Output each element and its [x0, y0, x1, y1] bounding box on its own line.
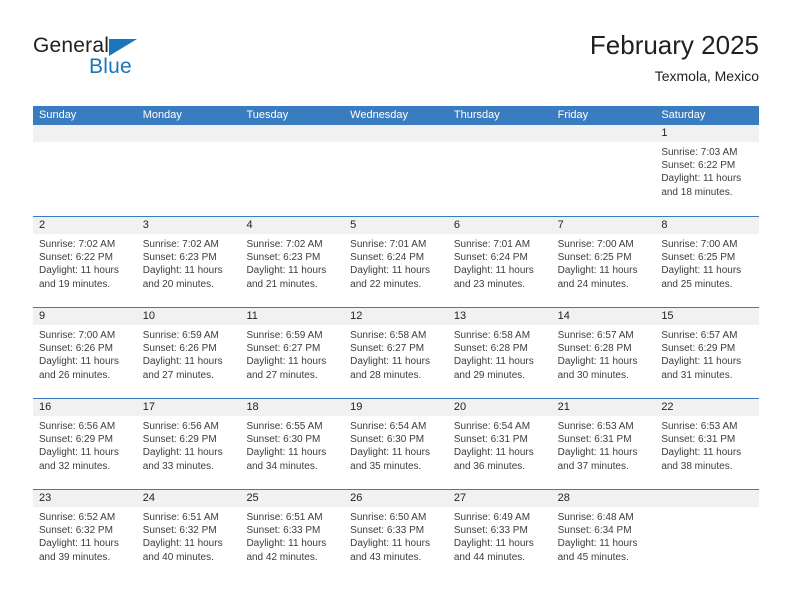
day-number: 12 [344, 308, 448, 325]
weekday-header-monday: Monday [137, 106, 241, 125]
day-details: Sunrise: 7:00 AMSunset: 6:25 PMDaylight:… [655, 234, 759, 307]
daylight-text: and 21 minutes. [246, 278, 338, 291]
sunrise-text: Sunrise: 7:00 AM [558, 238, 650, 251]
daylight-text: Daylight: 11 hours [661, 355, 753, 368]
daylight-text: Daylight: 11 hours [558, 446, 650, 459]
day-details: Sunrise: 6:54 AMSunset: 6:31 PMDaylight:… [448, 416, 552, 489]
day-details: Sunrise: 7:00 AMSunset: 6:26 PMDaylight:… [33, 325, 137, 398]
day-details: Sunrise: 7:03 AMSunset: 6:22 PMDaylight:… [655, 142, 759, 215]
day-cell-14[interactable]: 14Sunrise: 6:57 AMSunset: 6:28 PMDayligh… [552, 308, 656, 398]
day-number: 7 [552, 217, 656, 234]
page-header: General Blue February 2025 Texmola, Mexi… [33, 30, 759, 94]
calendar-week-row: 16Sunrise: 6:56 AMSunset: 6:29 PMDayligh… [33, 398, 759, 489]
daylight-text: Daylight: 11 hours [454, 355, 546, 368]
day-number: 25 [240, 490, 344, 507]
day-cell-25[interactable]: 25Sunrise: 6:51 AMSunset: 6:33 PMDayligh… [240, 490, 344, 580]
logo-word-blue: Blue [89, 55, 132, 79]
day-number: 21 [552, 399, 656, 416]
daylight-text: and 38 minutes. [661, 460, 753, 473]
day-details: Sunrise: 6:59 AMSunset: 6:27 PMDaylight:… [240, 325, 344, 398]
day-number-band: 9 [33, 308, 137, 325]
sunrise-text: Sunrise: 6:59 AM [246, 329, 338, 342]
day-cell-15[interactable]: 15Sunrise: 6:57 AMSunset: 6:29 PMDayligh… [655, 308, 759, 398]
day-details: Sunrise: 7:01 AMSunset: 6:24 PMDaylight:… [448, 234, 552, 307]
day-number: 2 [33, 217, 137, 234]
daylight-text: and 34 minutes. [246, 460, 338, 473]
daylight-text: and 26 minutes. [39, 369, 131, 382]
sunrise-text: Sunrise: 6:48 AM [558, 511, 650, 524]
daylight-text: Daylight: 11 hours [661, 264, 753, 277]
day-number-band: 5 [344, 217, 448, 234]
day-cell-empty [33, 125, 137, 216]
sunset-text: Sunset: 6:26 PM [39, 342, 131, 355]
daylight-text: Daylight: 11 hours [39, 355, 131, 368]
sunset-text: Sunset: 6:32 PM [39, 524, 131, 537]
page-subtitle: Texmola, Mexico [590, 66, 759, 86]
title-block: February 2025 Texmola, Mexico [590, 30, 759, 86]
sunrise-text: Sunrise: 6:58 AM [350, 329, 442, 342]
weekday-header-thursday: Thursday [448, 106, 552, 125]
day-cell-11[interactable]: 11Sunrise: 6:59 AMSunset: 6:27 PMDayligh… [240, 308, 344, 398]
daylight-text: Daylight: 11 hours [39, 537, 131, 550]
sunset-text: Sunset: 6:33 PM [246, 524, 338, 537]
day-details: Sunrise: 6:58 AMSunset: 6:27 PMDaylight:… [344, 325, 448, 398]
day-number: 23 [33, 490, 137, 507]
logo-triangle-icon [109, 39, 137, 56]
day-details [137, 142, 241, 215]
page-title: February 2025 [590, 30, 759, 60]
day-details: Sunrise: 6:56 AMSunset: 6:29 PMDaylight:… [33, 416, 137, 489]
day-cell-9[interactable]: 9Sunrise: 7:00 AMSunset: 6:26 PMDaylight… [33, 308, 137, 398]
day-number-band [137, 125, 241, 142]
day-number-band: 2 [33, 217, 137, 234]
day-number-band: 25 [240, 490, 344, 507]
weekday-header-saturday: Saturday [655, 106, 759, 125]
daylight-text: and 45 minutes. [558, 551, 650, 564]
day-cell-13[interactable]: 13Sunrise: 6:58 AMSunset: 6:28 PMDayligh… [448, 308, 552, 398]
day-number: 9 [33, 308, 137, 325]
day-number: 27 [448, 490, 552, 507]
weekday-header-friday: Friday [552, 106, 656, 125]
day-details: Sunrise: 6:53 AMSunset: 6:31 PMDaylight:… [552, 416, 656, 489]
day-details: Sunrise: 7:02 AMSunset: 6:22 PMDaylight:… [33, 234, 137, 307]
day-details: Sunrise: 6:51 AMSunset: 6:32 PMDaylight:… [137, 507, 241, 580]
day-number: 28 [552, 490, 656, 507]
daylight-text: and 24 minutes. [558, 278, 650, 291]
day-details [448, 142, 552, 215]
sunset-text: Sunset: 6:25 PM [558, 251, 650, 264]
sunrise-text: Sunrise: 6:56 AM [143, 420, 235, 433]
daylight-text: Daylight: 11 hours [661, 446, 753, 459]
day-number: 11 [240, 308, 344, 325]
sunset-text: Sunset: 6:34 PM [558, 524, 650, 537]
daylight-text: Daylight: 11 hours [350, 537, 442, 550]
daylight-text: Daylight: 11 hours [350, 355, 442, 368]
daylight-text: Daylight: 11 hours [143, 355, 235, 368]
day-number: 19 [344, 399, 448, 416]
day-number-band: 4 [240, 217, 344, 234]
day-number-band: 15 [655, 308, 759, 325]
sunrise-text: Sunrise: 7:00 AM [39, 329, 131, 342]
day-cell-empty [344, 125, 448, 216]
day-details [344, 142, 448, 215]
day-cell-2[interactable]: 2Sunrise: 7:02 AMSunset: 6:22 PMDaylight… [33, 217, 137, 307]
day-number-band: 28 [552, 490, 656, 507]
sunrise-text: Sunrise: 6:55 AM [246, 420, 338, 433]
day-details: Sunrise: 6:54 AMSunset: 6:30 PMDaylight:… [344, 416, 448, 489]
day-details [33, 142, 137, 215]
weekday-header-row: SundayMondayTuesdayWednesdayThursdayFrid… [33, 106, 759, 125]
day-cell-empty [137, 125, 241, 216]
day-number-band [240, 125, 344, 142]
daylight-text: and 22 minutes. [350, 278, 442, 291]
day-details [552, 142, 656, 215]
sunset-text: Sunset: 6:31 PM [558, 433, 650, 446]
day-number-band: 17 [137, 399, 241, 416]
day-number-band: 3 [137, 217, 241, 234]
sunset-text: Sunset: 6:31 PM [454, 433, 546, 446]
day-cell-10[interactable]: 10Sunrise: 6:59 AMSunset: 6:26 PMDayligh… [137, 308, 241, 398]
daylight-text: Daylight: 11 hours [143, 264, 235, 277]
daylight-text: Daylight: 11 hours [246, 537, 338, 550]
daylight-text: and 20 minutes. [143, 278, 235, 291]
sunrise-text: Sunrise: 6:52 AM [39, 511, 131, 524]
sunrise-text: Sunrise: 6:54 AM [454, 420, 546, 433]
sunset-text: Sunset: 6:33 PM [350, 524, 442, 537]
day-number: 1 [655, 125, 759, 142]
sunset-text: Sunset: 6:29 PM [143, 433, 235, 446]
sunrise-text: Sunrise: 6:50 AM [350, 511, 442, 524]
day-number-band: 19 [344, 399, 448, 416]
daylight-text: and 35 minutes. [350, 460, 442, 473]
day-cell-3[interactable]: 3Sunrise: 7:02 AMSunset: 6:23 PMDaylight… [137, 217, 241, 307]
sunrise-text: Sunrise: 6:54 AM [350, 420, 442, 433]
day-number-band [655, 490, 759, 507]
day-number: 4 [240, 217, 344, 234]
day-details: Sunrise: 6:56 AMSunset: 6:29 PMDaylight:… [137, 416, 241, 489]
day-cell-22[interactable]: 22Sunrise: 6:53 AMSunset: 6:31 PMDayligh… [655, 399, 759, 489]
day-cell-1[interactable]: 1Sunrise: 7:03 AMSunset: 6:22 PMDaylight… [655, 125, 759, 216]
sunrise-text: Sunrise: 6:49 AM [454, 511, 546, 524]
calendar-grid: SundayMondayTuesdayWednesdayThursdayFrid… [33, 106, 759, 580]
daylight-text: Daylight: 11 hours [558, 264, 650, 277]
day-details: Sunrise: 6:59 AMSunset: 6:26 PMDaylight:… [137, 325, 241, 398]
day-details [240, 142, 344, 215]
daylight-text: Daylight: 11 hours [558, 537, 650, 550]
daylight-text: Daylight: 11 hours [350, 446, 442, 459]
calendar-week-row: 9Sunrise: 7:00 AMSunset: 6:26 PMDaylight… [33, 307, 759, 398]
day-details: Sunrise: 7:01 AMSunset: 6:24 PMDaylight:… [344, 234, 448, 307]
calendar-week-row: 2Sunrise: 7:02 AMSunset: 6:22 PMDaylight… [33, 216, 759, 307]
day-number: 20 [448, 399, 552, 416]
day-details: Sunrise: 6:55 AMSunset: 6:30 PMDaylight:… [240, 416, 344, 489]
day-number-band: 6 [448, 217, 552, 234]
day-details: Sunrise: 6:57 AMSunset: 6:29 PMDaylight:… [655, 325, 759, 398]
day-cell-24[interactable]: 24Sunrise: 6:51 AMSunset: 6:32 PMDayligh… [137, 490, 241, 580]
day-cell-empty [240, 125, 344, 216]
sunrise-text: Sunrise: 7:01 AM [350, 238, 442, 251]
day-number-band [33, 125, 137, 142]
daylight-text: Daylight: 11 hours [143, 537, 235, 550]
sunrise-text: Sunrise: 6:57 AM [661, 329, 753, 342]
sunset-text: Sunset: 6:33 PM [454, 524, 546, 537]
day-number-band: 21 [552, 399, 656, 416]
day-cell-28[interactable]: 28Sunrise: 6:48 AMSunset: 6:34 PMDayligh… [552, 490, 656, 580]
day-cell-5[interactable]: 5Sunrise: 7:01 AMSunset: 6:24 PMDaylight… [344, 217, 448, 307]
day-number-band [448, 125, 552, 142]
sunset-text: Sunset: 6:30 PM [350, 433, 442, 446]
sunset-text: Sunset: 6:26 PM [143, 342, 235, 355]
weekday-header-sunday: Sunday [33, 106, 137, 125]
sunrise-text: Sunrise: 6:56 AM [39, 420, 131, 433]
day-cell-21[interactable]: 21Sunrise: 6:53 AMSunset: 6:31 PMDayligh… [552, 399, 656, 489]
daylight-text: and 37 minutes. [558, 460, 650, 473]
day-number-band: 24 [137, 490, 241, 507]
general-blue-logo[interactable]: General Blue [33, 34, 213, 90]
day-number-band [344, 125, 448, 142]
day-cell-20[interactable]: 20Sunrise: 6:54 AMSunset: 6:31 PMDayligh… [448, 399, 552, 489]
day-number: 6 [448, 217, 552, 234]
day-number-band: 12 [344, 308, 448, 325]
day-number: 17 [137, 399, 241, 416]
day-cell-19[interactable]: 19Sunrise: 6:54 AMSunset: 6:30 PMDayligh… [344, 399, 448, 489]
daylight-text: Daylight: 11 hours [454, 537, 546, 550]
sunset-text: Sunset: 6:30 PM [246, 433, 338, 446]
daylight-text: and 40 minutes. [143, 551, 235, 564]
sunset-text: Sunset: 6:22 PM [661, 159, 753, 172]
day-number: 14 [552, 308, 656, 325]
day-number-band: 22 [655, 399, 759, 416]
day-cell-27[interactable]: 27Sunrise: 6:49 AMSunset: 6:33 PMDayligh… [448, 490, 552, 580]
day-cell-12[interactable]: 12Sunrise: 6:58 AMSunset: 6:27 PMDayligh… [344, 308, 448, 398]
sunrise-text: Sunrise: 7:02 AM [246, 238, 338, 251]
sunset-text: Sunset: 6:23 PM [143, 251, 235, 264]
sunrise-text: Sunrise: 6:53 AM [558, 420, 650, 433]
day-cell-16[interactable]: 16Sunrise: 6:56 AMSunset: 6:29 PMDayligh… [33, 399, 137, 489]
day-number: 16 [33, 399, 137, 416]
sunset-text: Sunset: 6:31 PM [661, 433, 753, 446]
sunset-text: Sunset: 6:25 PM [661, 251, 753, 264]
day-cell-26[interactable]: 26Sunrise: 6:50 AMSunset: 6:33 PMDayligh… [344, 490, 448, 580]
day-number-band: 1 [655, 125, 759, 142]
day-number: 5 [344, 217, 448, 234]
daylight-text: and 39 minutes. [39, 551, 131, 564]
daylight-text: Daylight: 11 hours [39, 446, 131, 459]
daylight-text: and 19 minutes. [39, 278, 131, 291]
daylight-text: and 33 minutes. [143, 460, 235, 473]
sunset-text: Sunset: 6:22 PM [39, 251, 131, 264]
day-details: Sunrise: 6:57 AMSunset: 6:28 PMDaylight:… [552, 325, 656, 398]
calendar-weeks: 1Sunrise: 7:03 AMSunset: 6:22 PMDaylight… [33, 125, 759, 580]
day-number: 26 [344, 490, 448, 507]
daylight-text: Daylight: 11 hours [350, 264, 442, 277]
day-number-band: 16 [33, 399, 137, 416]
day-cell-4[interactable]: 4Sunrise: 7:02 AMSunset: 6:23 PMDaylight… [240, 217, 344, 307]
sunset-text: Sunset: 6:32 PM [143, 524, 235, 537]
daylight-text: Daylight: 11 hours [558, 355, 650, 368]
daylight-text: and 30 minutes. [558, 369, 650, 382]
day-details: Sunrise: 7:02 AMSunset: 6:23 PMDaylight:… [240, 234, 344, 307]
daylight-text: and 28 minutes. [350, 369, 442, 382]
daylight-text: and 31 minutes. [661, 369, 753, 382]
daylight-text: and 43 minutes. [350, 551, 442, 564]
calendar-week-row: 23Sunrise: 6:52 AMSunset: 6:32 PMDayligh… [33, 489, 759, 580]
day-number-band: 18 [240, 399, 344, 416]
day-details: Sunrise: 6:50 AMSunset: 6:33 PMDaylight:… [344, 507, 448, 580]
day-cell-23[interactable]: 23Sunrise: 6:52 AMSunset: 6:32 PMDayligh… [33, 490, 137, 580]
day-cell-empty [448, 125, 552, 216]
daylight-text: Daylight: 11 hours [661, 172, 753, 185]
day-cell-17[interactable]: 17Sunrise: 6:56 AMSunset: 6:29 PMDayligh… [137, 399, 241, 489]
day-details: Sunrise: 6:49 AMSunset: 6:33 PMDaylight:… [448, 507, 552, 580]
day-number-band: 13 [448, 308, 552, 325]
day-number-band: 11 [240, 308, 344, 325]
daylight-text: Daylight: 11 hours [246, 264, 338, 277]
day-number-band: 7 [552, 217, 656, 234]
calendar-week-row: 1Sunrise: 7:03 AMSunset: 6:22 PMDaylight… [33, 125, 759, 216]
daylight-text: and 27 minutes. [246, 369, 338, 382]
day-number-band: 27 [448, 490, 552, 507]
day-number: 15 [655, 308, 759, 325]
day-number: 10 [137, 308, 241, 325]
sunrise-text: Sunrise: 6:51 AM [143, 511, 235, 524]
sunrise-text: Sunrise: 7:00 AM [661, 238, 753, 251]
weekday-header-wednesday: Wednesday [344, 106, 448, 125]
sunrise-text: Sunrise: 6:53 AM [661, 420, 753, 433]
day-details: Sunrise: 6:58 AMSunset: 6:28 PMDaylight:… [448, 325, 552, 398]
daylight-text: and 42 minutes. [246, 551, 338, 564]
daylight-text: and 27 minutes. [143, 369, 235, 382]
sunrise-text: Sunrise: 6:58 AM [454, 329, 546, 342]
day-cell-8[interactable]: 8Sunrise: 7:00 AMSunset: 6:25 PMDaylight… [655, 217, 759, 307]
weekday-header-tuesday: Tuesday [240, 106, 344, 125]
daylight-text: and 29 minutes. [454, 369, 546, 382]
day-cell-empty [552, 125, 656, 216]
sunset-text: Sunset: 6:24 PM [454, 251, 546, 264]
sunset-text: Sunset: 6:28 PM [454, 342, 546, 355]
daylight-text: Daylight: 11 hours [246, 355, 338, 368]
daylight-text: and 18 minutes. [661, 186, 753, 199]
sunset-text: Sunset: 6:27 PM [246, 342, 338, 355]
day-number-band: 10 [137, 308, 241, 325]
day-number: 3 [137, 217, 241, 234]
daylight-text: Daylight: 11 hours [246, 446, 338, 459]
sunset-text: Sunset: 6:29 PM [39, 433, 131, 446]
daylight-text: Daylight: 11 hours [143, 446, 235, 459]
day-details: Sunrise: 6:51 AMSunset: 6:33 PMDaylight:… [240, 507, 344, 580]
sunrise-text: Sunrise: 7:02 AM [143, 238, 235, 251]
daylight-text: Daylight: 11 hours [39, 264, 131, 277]
day-number-band [552, 125, 656, 142]
day-details: Sunrise: 6:52 AMSunset: 6:32 PMDaylight:… [33, 507, 137, 580]
day-number-band: 8 [655, 217, 759, 234]
day-details [655, 507, 759, 580]
day-cell-7[interactable]: 7Sunrise: 7:00 AMSunset: 6:25 PMDaylight… [552, 217, 656, 307]
sunrise-text: Sunrise: 7:01 AM [454, 238, 546, 251]
sunset-text: Sunset: 6:29 PM [661, 342, 753, 355]
day-cell-empty [655, 490, 759, 580]
daylight-text: and 32 minutes. [39, 460, 131, 473]
day-details: Sunrise: 6:53 AMSunset: 6:31 PMDaylight:… [655, 416, 759, 489]
sunrise-text: Sunrise: 6:59 AM [143, 329, 235, 342]
day-number: 24 [137, 490, 241, 507]
sunset-text: Sunset: 6:23 PM [246, 251, 338, 264]
daylight-text: and 23 minutes. [454, 278, 546, 291]
daylight-text: and 44 minutes. [454, 551, 546, 564]
sunrise-text: Sunrise: 7:02 AM [39, 238, 131, 251]
day-cell-6[interactable]: 6Sunrise: 7:01 AMSunset: 6:24 PMDaylight… [448, 217, 552, 307]
day-number-band: 23 [33, 490, 137, 507]
day-number: 18 [240, 399, 344, 416]
sunrise-text: Sunrise: 7:03 AM [661, 146, 753, 159]
day-details: Sunrise: 7:00 AMSunset: 6:25 PMDaylight:… [552, 234, 656, 307]
sunset-text: Sunset: 6:27 PM [350, 342, 442, 355]
daylight-text: and 36 minutes. [454, 460, 546, 473]
sunset-text: Sunset: 6:28 PM [558, 342, 650, 355]
day-number-band: 20 [448, 399, 552, 416]
daylight-text: and 25 minutes. [661, 278, 753, 291]
sunset-text: Sunset: 6:24 PM [350, 251, 442, 264]
day-number-band: 14 [552, 308, 656, 325]
calendar-page: General Blue February 2025 Texmola, Mexi… [0, 0, 792, 612]
sunrise-text: Sunrise: 6:57 AM [558, 329, 650, 342]
daylight-text: Daylight: 11 hours [454, 264, 546, 277]
day-details: Sunrise: 6:48 AMSunset: 6:34 PMDaylight:… [552, 507, 656, 580]
day-number-band: 26 [344, 490, 448, 507]
day-cell-18[interactable]: 18Sunrise: 6:55 AMSunset: 6:30 PMDayligh… [240, 399, 344, 489]
sunrise-text: Sunrise: 6:51 AM [246, 511, 338, 524]
day-number: 22 [655, 399, 759, 416]
day-number: 8 [655, 217, 759, 234]
daylight-text: Daylight: 11 hours [454, 446, 546, 459]
day-details: Sunrise: 7:02 AMSunset: 6:23 PMDaylight:… [137, 234, 241, 307]
day-number: 13 [448, 308, 552, 325]
